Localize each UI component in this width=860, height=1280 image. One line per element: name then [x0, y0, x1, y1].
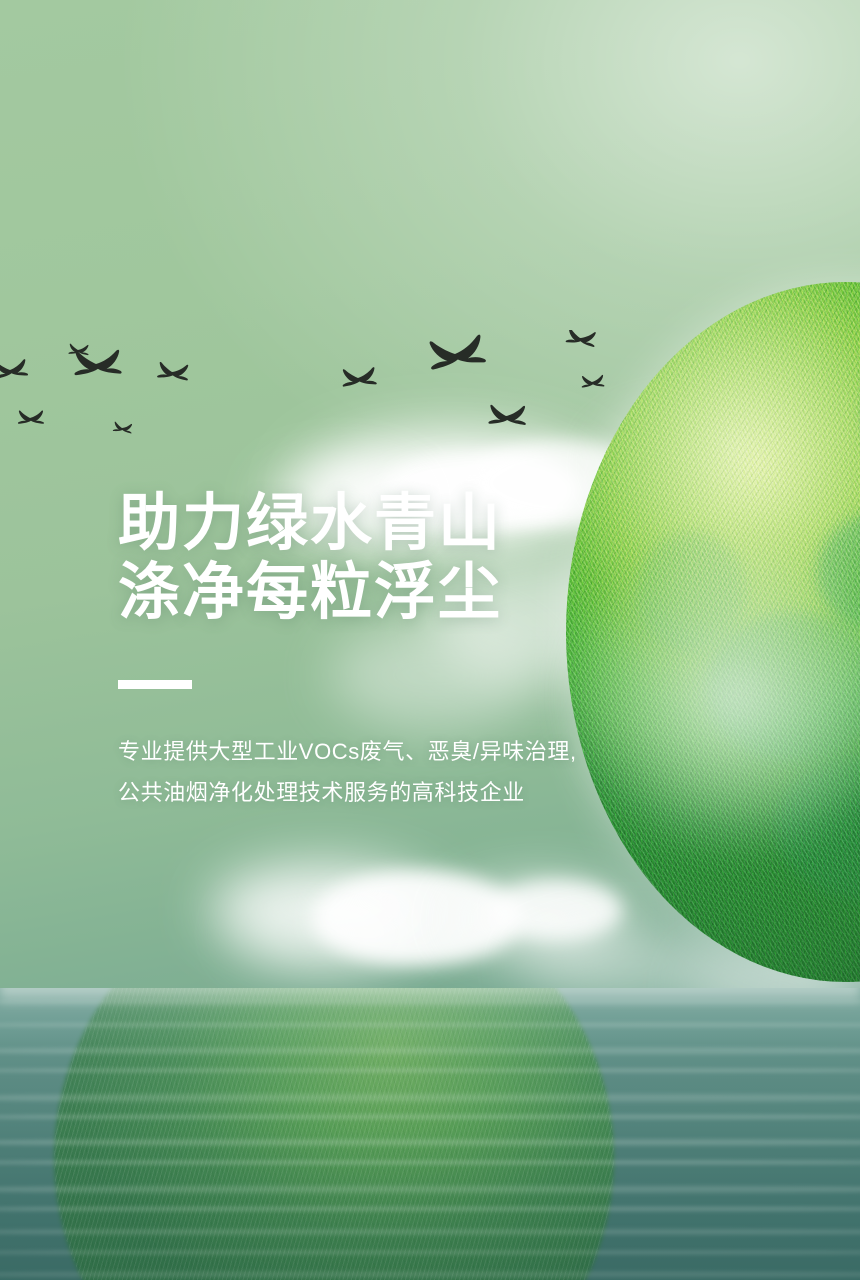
- horizon-glow: [0, 988, 860, 1008]
- cloud: [236, 900, 406, 966]
- bird-icon: [113, 421, 133, 433]
- page-title: 助力绿水青山 涤净每粒浮尘: [118, 489, 678, 628]
- bird-icon: [342, 367, 377, 387]
- bird-icon: [74, 350, 122, 376]
- bird-icon: [157, 362, 189, 381]
- page-subtitle: 专业提供大型工业VOCs废气、恶臭/异味治理, 公共油烟净化处理技术服务的高科技…: [118, 689, 678, 813]
- water-surface: [0, 988, 860, 1280]
- banner-poster: 助力绿水青山 涤净每粒浮尘 专业提供大型工业VOCs废气、恶臭/异味治理, 公共…: [0, 0, 860, 1280]
- headline-line-2: 涤净每粒浮尘: [118, 558, 678, 627]
- bird-icon: [18, 411, 44, 424]
- subtitle-line-2: 公共油烟净化处理技术服务的高科技企业: [118, 773, 678, 814]
- headline-line-1: 助力绿水青山: [118, 489, 678, 558]
- bird-icon: [0, 359, 28, 379]
- hero-content: 助力绿水青山 涤净每粒浮尘 专业提供大型工业VOCs废气、恶臭/异味治理, 公共…: [118, 489, 678, 813]
- flying-birds-flock: [0, 330, 460, 470]
- bird-icon: [427, 334, 486, 370]
- subtitle-line-1: 专业提供大型工业VOCs废气、恶臭/异味治理,: [118, 732, 678, 773]
- water-veil: [0, 988, 860, 1280]
- bird-icon: [488, 405, 526, 425]
- divider-rule: [118, 680, 192, 689]
